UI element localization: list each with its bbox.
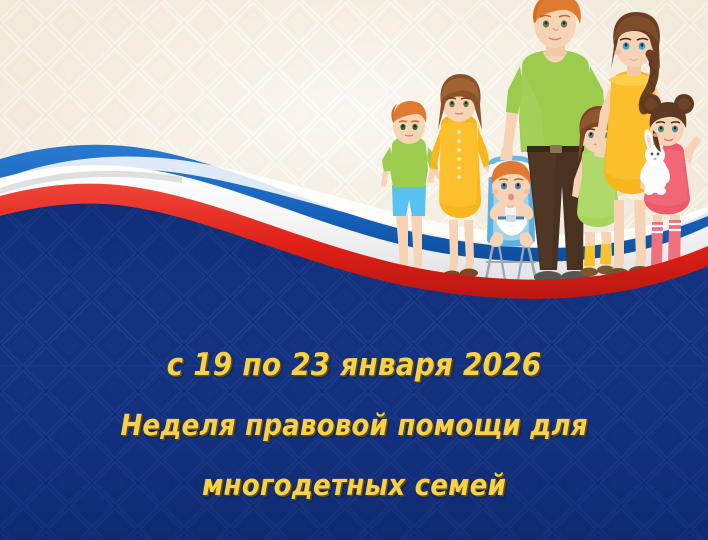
poster-title-line-1: Неделя правовой помощи для bbox=[0, 381, 708, 440]
poster-canvas: с 19 по 23 января 2026 Неделя правовой п… bbox=[0, 0, 708, 540]
poster-date-line: с 19 по 23 января 2026 bbox=[0, 340, 708, 381]
poster-title-line-2: многодетных семей bbox=[0, 440, 708, 500]
poster-text-block: с 19 по 23 января 2026 Неделя правовой п… bbox=[0, 340, 708, 500]
